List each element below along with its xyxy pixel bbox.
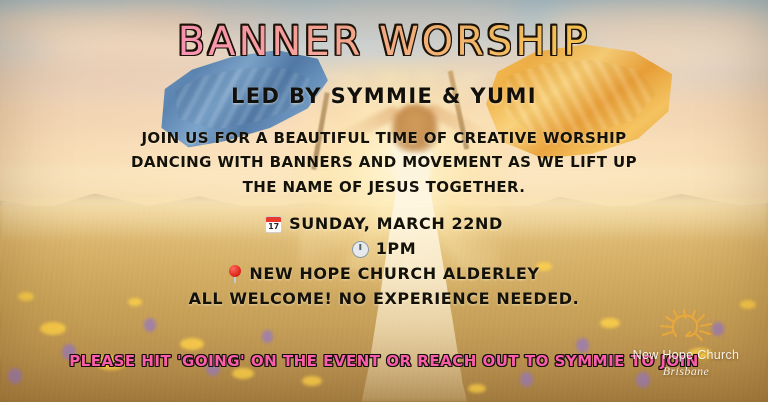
calendar-icon-day: 17 [265,221,282,232]
event-date: SUNDAY, MARCH 22ND [289,212,503,237]
page-title: BANNER WORSHIP [0,22,768,62]
subtitle-leaders: LED BY SYMMIE & YUMI [0,84,768,108]
event-poster: BANNER WORSHIP LED BY SYMMIE & YUMI JOIN… [0,0,768,402]
sunburst-icon [654,306,718,346]
church-logo: New Hope Church Brisbane [622,306,750,392]
event-location: NEW HOPE CHURCH ALDERLEY [249,262,539,287]
clock-icon [352,241,369,258]
pin-icon [228,265,242,283]
event-details: 17 SUNDAY, MARCH 22ND 1PM NEW HOPE CHURC… [0,212,768,312]
detail-time-row: 1PM [0,237,768,262]
calendar-icon: 17 [265,216,282,233]
logo-city: Brisbane [622,364,750,379]
event-time: 1PM [376,237,417,262]
detail-date-row: 17 SUNDAY, MARCH 22ND [0,212,768,237]
event-description: JOIN US FOR A BEAUTIFUL TIME OF CREATIVE… [124,126,644,199]
detail-location-row: NEW HOPE CHURCH ALDERLEY [0,262,768,287]
logo-church-name: New Hope Church [622,348,750,363]
